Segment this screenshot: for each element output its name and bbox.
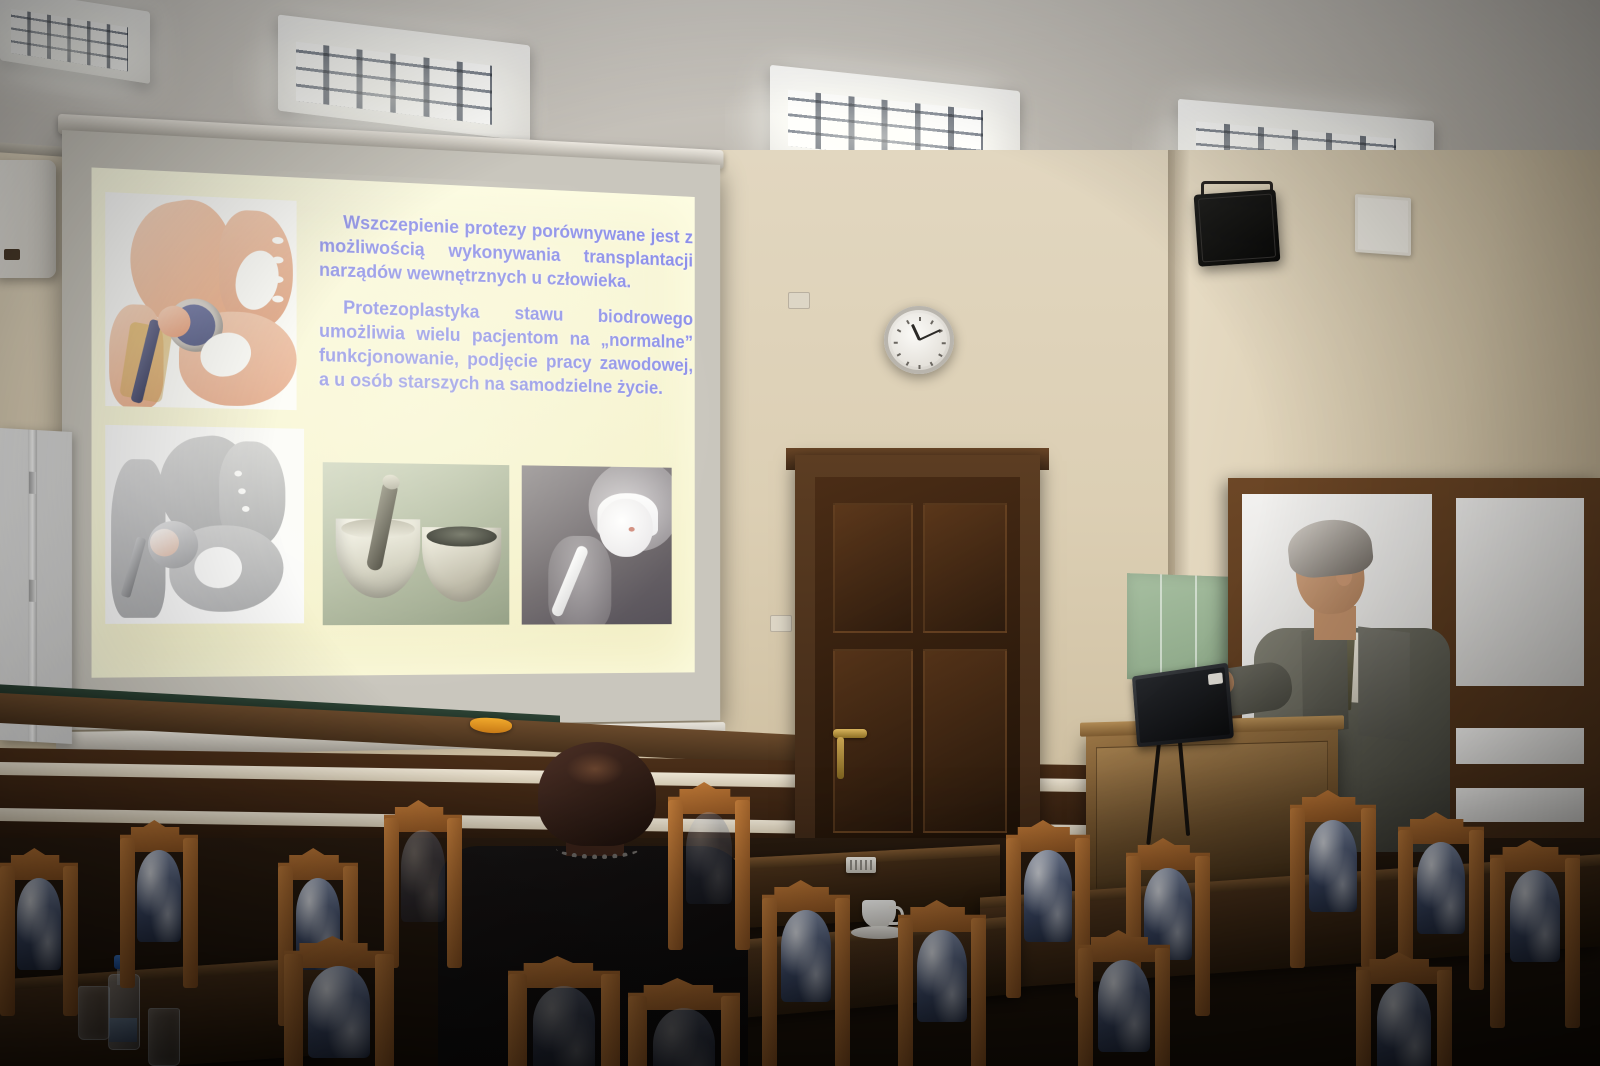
list-item-chair[interactable] — [1078, 930, 1170, 1066]
list-item-chair[interactable] — [1490, 840, 1580, 1010]
metal-acetabular-cups-photo — [323, 462, 510, 625]
wooden-door[interactable] — [815, 477, 1020, 855]
door-frame — [795, 455, 1040, 855]
list-item-chair[interactable] — [508, 956, 620, 1066]
drinking-glass-2[interactable] — [148, 1008, 180, 1066]
list-item-chair[interactable] — [1398, 812, 1484, 972]
wall-speaker — [1194, 189, 1281, 267]
door-handle[interactable] — [833, 729, 867, 738]
drinking-glass-1[interactable] — [78, 986, 110, 1040]
list-item-chair[interactable] — [284, 936, 394, 1066]
lecture-room-photo: Wszczepienie protezy porównywane jest z … — [0, 0, 1600, 1066]
list-item-chair[interactable] — [762, 880, 850, 1050]
air-conditioner — [0, 160, 56, 278]
wall-clock — [884, 306, 954, 374]
slide-paragraph-2: Protezoplastyka stawu biodrowego umożliw… — [319, 295, 693, 401]
list-item-chair[interactable] — [1290, 790, 1376, 950]
list-item-chair[interactable] — [1356, 952, 1452, 1066]
whiteboard-panel-3 — [1456, 728, 1584, 764]
presentation-slide: Wszczepienie protezy porównywane jest z … — [92, 167, 695, 677]
list-item-chair[interactable] — [628, 978, 740, 1066]
list-item-chair[interactable] — [0, 848, 78, 998]
anatomical-hip-prosthesis-illustration — [105, 192, 296, 410]
laptop[interactable] — [1132, 663, 1234, 748]
projection-screen: Wszczepienie protezy porównywane jest z … — [62, 130, 720, 730]
wall-outlet-lower[interactable] — [770, 615, 792, 632]
whiteboard-panel-2 — [1456, 498, 1584, 686]
presenter-hair — [1285, 516, 1374, 580]
pelvis-model-grey-photo — [105, 425, 304, 624]
list-item-chair[interactable] — [898, 900, 986, 1066]
wall-outlet-upper[interactable] — [788, 292, 810, 309]
ventilation-grille — [1355, 194, 1411, 256]
laptop-badge — [1208, 672, 1223, 685]
hip-xray-photo — [522, 465, 672, 624]
list-item-chair[interactable] — [120, 820, 198, 970]
small-white-box[interactable] — [846, 857, 876, 873]
slide-text-block: Wszczepienie protezy porównywane jest z … — [319, 210, 693, 402]
slide-paragraph-1: Wszczepienie protezy porównywane jest z … — [319, 210, 693, 297]
coffee-cup[interactable] — [862, 900, 896, 928]
list-item-chair[interactable] — [668, 782, 750, 932]
screen-surface: Wszczepienie protezy porównywane jest z … — [62, 130, 720, 730]
list-item-chair[interactable] — [384, 800, 462, 950]
